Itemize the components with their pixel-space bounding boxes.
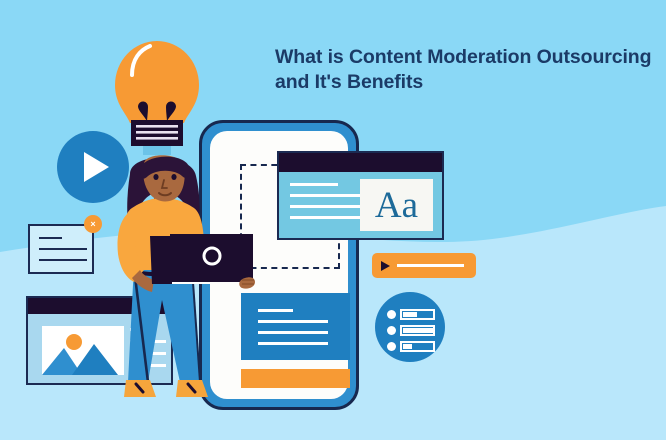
font-sample-text: Aa — [375, 187, 418, 224]
bullet-dot-icon — [387, 326, 396, 335]
bullet-dot-icon — [387, 342, 396, 351]
video-progress-track[interactable] — [397, 264, 464, 267]
illustration-banner: What is Content Moderation Outsourcing a… — [0, 0, 666, 440]
list-item — [387, 341, 435, 352]
laptop-illustration — [150, 222, 255, 297]
progress-bar — [400, 341, 435, 352]
font-sample-box: Aa — [360, 179, 433, 231]
checklist-rows — [387, 309, 435, 357]
phone-content-lines — [258, 309, 328, 345]
phone-primary-button[interactable] — [241, 369, 350, 388]
text-card-lines — [39, 237, 87, 261]
text-post-card[interactable] — [28, 224, 94, 274]
list-item — [387, 309, 435, 320]
typography-card-title-bar — [279, 153, 442, 172]
video-progress-bar[interactable] — [372, 253, 476, 278]
moderation-checklist-button[interactable] — [375, 292, 445, 362]
list-item — [387, 325, 435, 336]
typography-card[interactable]: Aa — [277, 151, 444, 240]
progress-bar — [400, 309, 435, 320]
play-triangle-icon[interactable] — [381, 261, 390, 271]
bullet-dot-icon — [387, 310, 396, 319]
typography-card-body: Aa — [279, 172, 442, 238]
progress-bar — [400, 325, 435, 336]
phone-content-block — [241, 293, 350, 360]
